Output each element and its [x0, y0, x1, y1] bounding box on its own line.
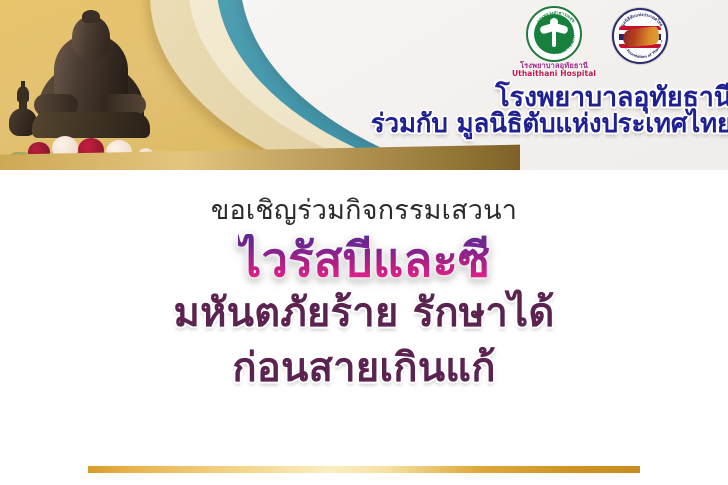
topic-title: ไวรัสบีและซี [238, 234, 491, 289]
poster-message: ขอเชิญร่วมกิจกรรมเสวนา ไวรัสบีและซี มหัน… [0, 194, 728, 395]
header-headline: โรงพยาบาลอุทัยธานี ร่วมกับ มูลนิธิตับแห่… [172, 84, 728, 138]
header-banner: กระทรวงสาธารณสุข MINISTRY OF PUBLIC HEAL… [0, 0, 728, 170]
header-headline-line1: โรงพยาบาลอุทัยธานี [172, 84, 728, 112]
subtitle-line-1: มหันตภัยร้าย รักษาได้ [0, 288, 728, 339]
hospital-name-english: Uthaithani Hospital [508, 70, 600, 78]
invitation-line: ขอเชิญร่วมกิจกรรมเสวนา [0, 194, 728, 228]
statue-topknot [82, 10, 100, 23]
organization-logos: กระทรวงสาธารณสุข MINISTRY OF PUBLIC HEAL… [508, 6, 678, 80]
bronze-statue-artwork [6, 8, 166, 168]
poster-canvas: กระทรวงสาธารณสุข MINISTRY OF PUBLIC HEAL… [0, 0, 728, 485]
moph-green-disc [534, 14, 574, 54]
ministry-of-public-health-emblem-icon: กระทรวงสาธารณสุข MINISTRY OF PUBLIC HEAL… [526, 6, 582, 62]
header-headline-line2: ร่วมกับ มูลนิธิตับแห่งประเทศไทย [172, 111, 728, 138]
subtitle-line-2: ก่อนสายเกินแก้ [0, 343, 728, 394]
poster-body: ขอเชิญร่วมกิจกรรมเสวนา ไวรัสบีและซี มหัน… [0, 170, 728, 485]
liver-foundation-emblem-icon: มูลนิธิตับแห่งประเทศไทย Liver Foundation… [612, 8, 668, 64]
gold-divider [88, 466, 640, 473]
hospital-name-caption: โรงพยาบาลอุทัยธานี Uthaithani Hospital [508, 62, 600, 78]
